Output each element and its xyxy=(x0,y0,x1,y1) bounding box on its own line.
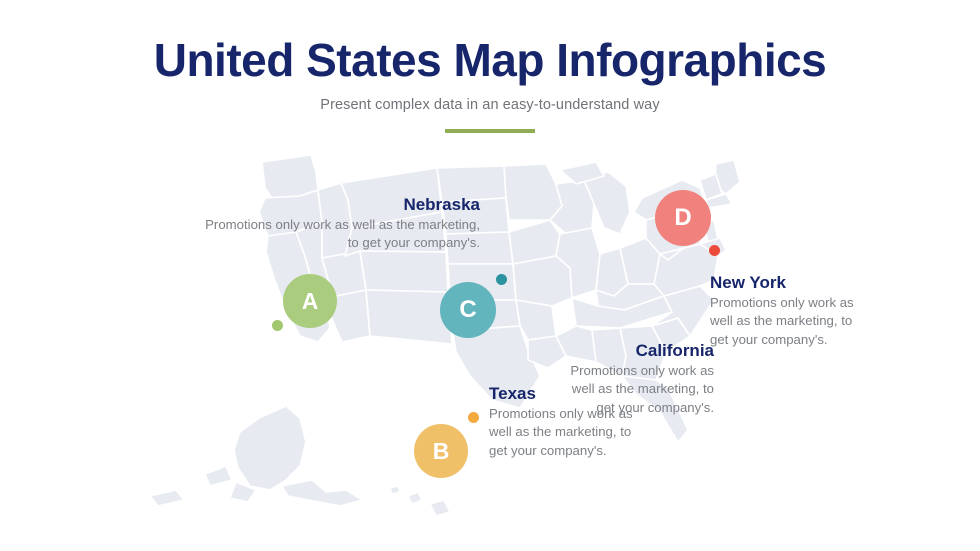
map-container xyxy=(0,150,980,551)
page-title: United States Map Infographics xyxy=(0,36,980,84)
map-bubble-d[interactable]: D xyxy=(655,190,711,246)
callout-state-name-newyork: New York xyxy=(710,272,895,293)
map-marker-dot-c[interactable] xyxy=(496,274,507,285)
slide-canvas: United States Map Infographics Present c… xyxy=(0,0,980,551)
united-states-map xyxy=(0,150,980,551)
map-marker-dot-d[interactable] xyxy=(709,245,720,256)
state-washington xyxy=(262,155,318,198)
callout-line: Promotions only work as xyxy=(710,294,895,312)
callout-description-newyork: Promotions only work aswell as the marke… xyxy=(710,294,895,349)
map-marker-dot-a[interactable] xyxy=(272,320,283,331)
map-marker-dot-b[interactable] xyxy=(468,412,479,423)
map-bubble-c[interactable]: C xyxy=(440,282,496,338)
callout-line: get your company's. xyxy=(489,442,679,460)
page-subtitle: Present complex data in an easy-to-under… xyxy=(0,97,980,113)
callout-line: Promotions only work as xyxy=(534,362,714,380)
state-new-mexico xyxy=(366,290,452,344)
callout-state-name-california: California xyxy=(534,340,714,361)
callout-line: Promotions only work as xyxy=(489,405,679,423)
callout-line: well as the marketing, to xyxy=(489,423,679,441)
callout-line: Promotions only work as well as the mark… xyxy=(155,216,480,234)
callout-state-name-nebraska: Nebraska xyxy=(155,194,480,215)
map-bubble-a[interactable]: A xyxy=(283,274,337,328)
callout-line: well as the marketing, to xyxy=(710,312,895,330)
callout-line: get your company's. xyxy=(710,331,895,349)
callout-nebraska: NebraskaPromotions only work as well as … xyxy=(155,194,480,253)
callout-description-texas: Promotions only work aswell as the marke… xyxy=(489,405,679,460)
state-minnesota xyxy=(504,164,562,220)
state-hawaii xyxy=(390,486,450,516)
state-missouri xyxy=(513,256,572,306)
callout-description-nebraska: Promotions only work as well as the mark… xyxy=(155,216,480,252)
title-divider xyxy=(445,129,535,133)
callout-state-name-texas: Texas xyxy=(489,383,679,404)
map-bubble-b[interactable]: B xyxy=(414,424,468,478)
callout-line: to get your company's. xyxy=(155,234,480,252)
callout-texas: TexasPromotions only work aswell as the … xyxy=(489,383,679,460)
state-colorado xyxy=(360,251,448,292)
callout-newyork: New YorkPromotions only work aswell as t… xyxy=(710,272,895,349)
state-alaska xyxy=(150,406,362,506)
